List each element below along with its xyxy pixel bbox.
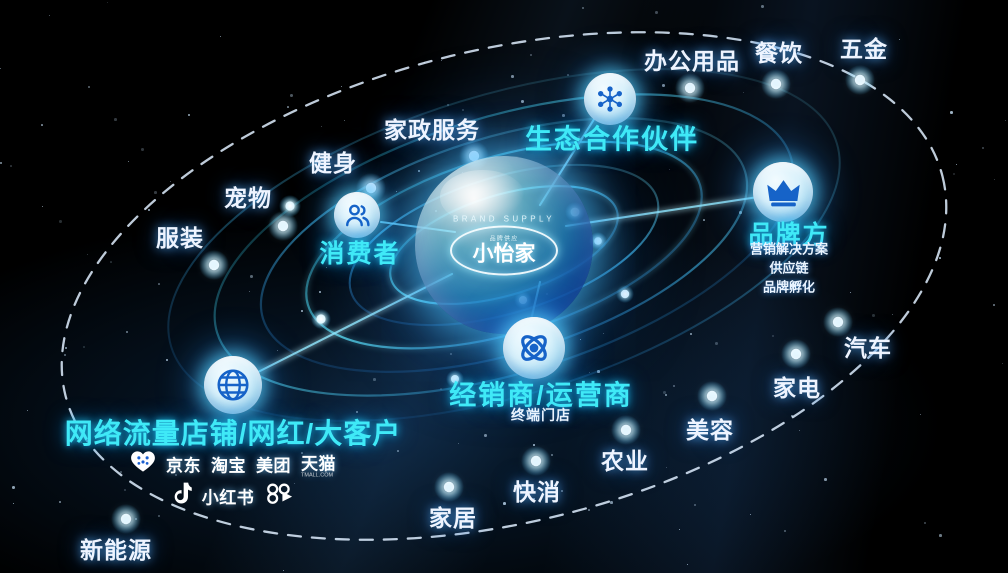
node-label-online-traffic[interactable]: 网络流量店铺/网红/大客户 <box>65 412 402 452</box>
orbit-label-10[interactable]: 农业 <box>601 442 649 476</box>
kuaishou-camera-icon <box>264 483 294 510</box>
node-sublabel-brand-side: 营销解决方案供应链品牌孵化 <box>750 241 828 298</box>
platform-row-2: 小红书 <box>172 482 295 511</box>
center-sphere: BRAND SUPPLY 品牌供应 小怡家 <box>415 156 593 334</box>
node-badge-distributor[interactable] <box>503 317 565 379</box>
platform-label-xiaohongshu: 小红书 <box>202 484 255 509</box>
orbit-label-1[interactable]: 餐饮 <box>755 34 803 68</box>
crown-icon <box>765 174 802 211</box>
platform-taobao[interactable]: 淘宝 <box>211 452 246 477</box>
platform-label-meituan: 美团 <box>256 452 291 477</box>
node-badge-online-traffic[interactable] <box>204 356 262 414</box>
orbit-label-9[interactable]: 美容 <box>686 411 734 445</box>
logo-oval: 品牌供应 小怡家 <box>450 226 558 276</box>
platform-douyin[interactable] <box>172 482 192 511</box>
logo-tiny-text: 品牌供应 <box>490 237 519 243</box>
node-sublabel-distributor: 终端门店 <box>511 405 571 425</box>
globe-icon <box>215 367 251 403</box>
people-icon <box>343 201 372 230</box>
platform-row-1: 京东淘宝美团天猫TMALL.COM <box>130 450 336 479</box>
orbit-label-5[interactable]: 宠物 <box>224 179 272 213</box>
platform-xiaohongshu[interactable]: 小红书 <box>202 484 255 509</box>
ecosystem-infographic: BRAND SUPPLY 品牌供应 小怡家 生态合作伙伴 品牌方营销解决方案供应… <box>0 0 1008 573</box>
orbit-label-3[interactable]: 家政服务 <box>384 111 480 145</box>
orbit-label-12[interactable]: 家居 <box>429 499 477 533</box>
network-nodes-icon <box>594 83 626 115</box>
platform-label-jingdong: 京东 <box>166 452 201 477</box>
brand-logo: BRAND SUPPLY 品牌供应 小怡家 <box>440 215 568 276</box>
platform-jingdong[interactable]: 京东 <box>166 452 201 477</box>
orbit-label-7[interactable]: 汽车 <box>844 329 892 363</box>
orbit-label-13[interactable]: 新能源 <box>80 531 152 565</box>
platform-sublabel-tmall: TMALL.COM <box>301 473 336 479</box>
platform-label-taobao: 淘宝 <box>211 452 246 477</box>
pinduoduo-heart-icon <box>130 451 156 478</box>
logo-arc-text: BRAND SUPPLY <box>440 215 568 224</box>
orbit-label-8[interactable]: 家电 <box>773 369 821 403</box>
platform-pinduoduo[interactable] <box>130 451 156 478</box>
orbit-label-6[interactable]: 服装 <box>156 219 204 253</box>
platform-label-tmall: 天猫TMALL.COM <box>301 450 336 479</box>
logo-main-text: 小怡家 <box>473 244 536 265</box>
platform-tmall[interactable]: 天猫TMALL.COM <box>301 450 336 479</box>
node-badge-consumer[interactable] <box>334 192 380 238</box>
node-label-eco-partner[interactable]: 生态合作伙伴 <box>525 118 699 157</box>
douyin-note-icon <box>172 482 192 511</box>
platform-meituan[interactable]: 美团 <box>256 452 291 477</box>
orbit-label-2[interactable]: 五金 <box>840 30 888 64</box>
orbit-label-11[interactable]: 快消 <box>513 473 561 507</box>
orbit-label-0[interactable]: 办公用品 <box>644 42 740 76</box>
atom-icon <box>515 329 553 367</box>
node-label-consumer[interactable]: 消费者 <box>319 234 400 270</box>
node-badge-brand-side[interactable] <box>753 162 813 222</box>
orbit-label-4[interactable]: 健身 <box>309 144 357 178</box>
platform-kuaishou[interactable] <box>264 483 294 510</box>
